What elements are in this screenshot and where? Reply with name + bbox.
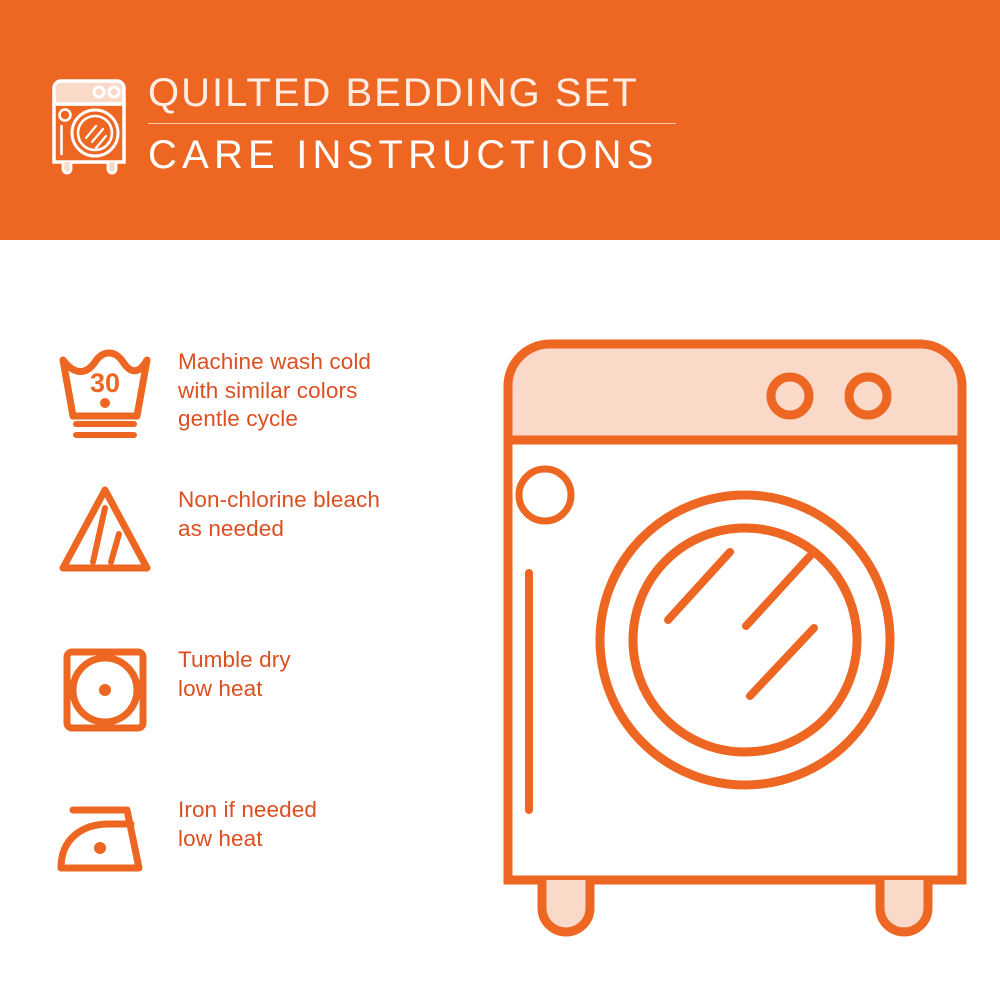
care-line: Non-chlorine bleach	[178, 486, 380, 515]
care-item-iron: Iron if needed low heat	[40, 788, 470, 892]
washing-machine-icon	[44, 72, 140, 176]
door-shine-lines	[668, 552, 814, 696]
care-item-bleach-text: Non-chlorine bleach as needed	[178, 478, 380, 543]
header-banner: QUILTED BEDDING SET CARE INSTRUCTIONS	[0, 0, 1000, 240]
leg-right	[880, 880, 928, 932]
care-item-wash-text: Machine wash cold with similar colors ge…	[178, 340, 371, 434]
title-divider	[148, 123, 676, 124]
door-inner-ring	[633, 528, 857, 752]
care-line: Machine wash cold	[178, 348, 371, 377]
control-panel	[508, 344, 962, 440]
care-line: as needed	[178, 515, 380, 544]
tumble-dry-icon	[40, 638, 170, 742]
care-instructions-list: 30 Machine wash cold with similar colors…	[0, 240, 480, 1000]
care-line: low heat	[178, 675, 291, 704]
iron-icon	[40, 788, 170, 892]
washing-machine-illustration	[480, 320, 990, 940]
leg-left	[542, 880, 590, 932]
page-title: QUILTED BEDDING SET	[148, 70, 708, 116]
care-item-dry-text: Tumble dry low heat	[178, 638, 291, 703]
care-item-iron-text: Iron if needed low heat	[178, 788, 317, 853]
care-item-bleach: Non-chlorine bleach as needed	[40, 478, 470, 582]
machine-body	[508, 440, 962, 880]
indicator-light	[519, 469, 571, 521]
door-outer-ring	[600, 495, 890, 785]
care-item-wash: 30 Machine wash cold with similar colors…	[40, 340, 470, 444]
care-item-dry: Tumble dry low heat	[40, 638, 470, 742]
wash-tub-icon: 30	[40, 340, 170, 444]
care-line: Iron if needed	[178, 796, 317, 825]
page-subtitle: CARE INSTRUCTIONS	[148, 131, 708, 179]
wash-temperature-label: 30	[90, 368, 120, 398]
header-text-block: QUILTED BEDDING SET CARE INSTRUCTIONS	[148, 70, 708, 179]
care-line: low heat	[178, 825, 317, 854]
bleach-triangle-icon	[40, 478, 170, 582]
care-line: Tumble dry	[178, 646, 291, 675]
care-line: with similar colors	[178, 377, 371, 406]
care-line: gentle cycle	[178, 405, 371, 434]
